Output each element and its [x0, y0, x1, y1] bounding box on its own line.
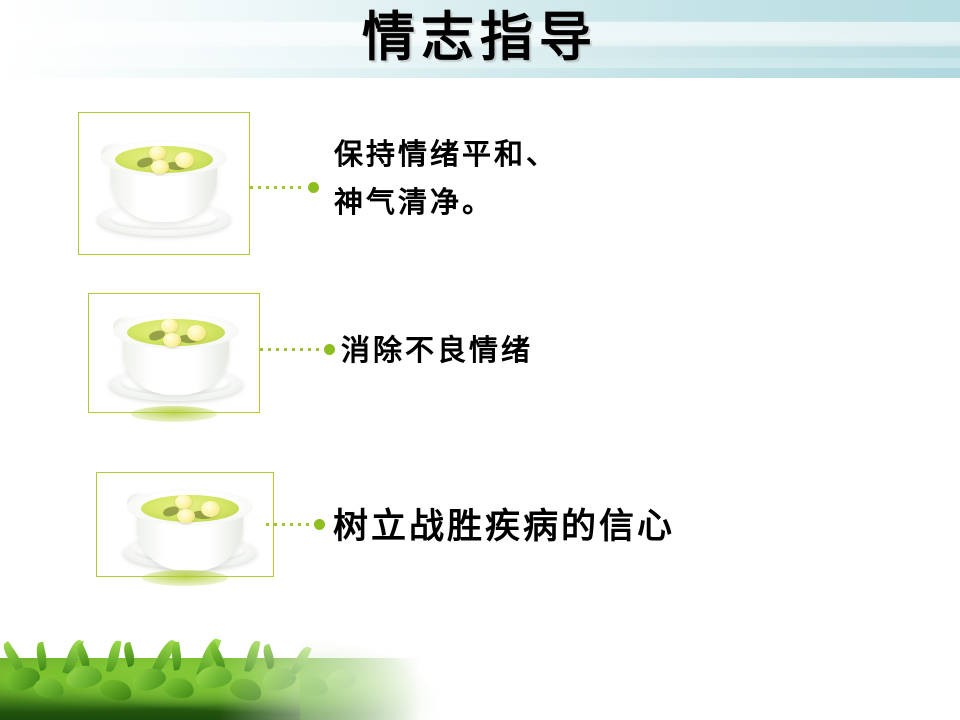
chrysanthemum-flower-shape: [175, 495, 192, 509]
item-text-2: 消除不良情绪: [341, 330, 533, 370]
bullet-dot-3: [314, 519, 325, 530]
item-text-3: 树立战胜疾病的信心: [333, 504, 675, 550]
dotted-line-2: [260, 348, 322, 351]
connector-2: [260, 343, 338, 355]
chrysanthemum-flower-shape: [187, 325, 206, 341]
bullet-dot-1: [308, 182, 319, 193]
tea-cup-image-2: [89, 294, 259, 412]
tea-cup-image-3: [97, 473, 273, 576]
image-frame-2[interactable]: [88, 293, 260, 413]
chrysanthemum-flower-shape: [151, 160, 169, 174]
dotted-line-3: [266, 523, 312, 526]
image-frame-3[interactable]: [96, 472, 274, 577]
tea-leaf-decoration: [0, 628, 420, 720]
tea-cup-image-1: [79, 113, 249, 254]
frame-shadow-3: [142, 570, 228, 586]
chrysanthemum-flower-shape: [149, 146, 166, 160]
chrysanthemum-flower-shape: [175, 152, 194, 168]
slide-canvas: 情志指导 保持情绪平和、 神气清净。: [0, 0, 960, 720]
tea-cup-illustration: [89, 124, 239, 244]
chrysanthemum-flower-shape: [161, 319, 178, 333]
connector-3: [266, 518, 328, 530]
tea-cup-illustration: [101, 297, 247, 409]
bullet-dot-2: [324, 344, 335, 355]
chrysanthemum-flower-shape: [163, 333, 181, 347]
item-text-1-line2: 神气清净。: [334, 178, 494, 226]
frame-shadow-2: [131, 406, 217, 422]
page-title: 情志指导: [0, 6, 960, 70]
chrysanthemum-flower-shape: [201, 501, 220, 517]
connector-1: [250, 181, 322, 193]
chrysanthemum-flower-shape: [177, 509, 195, 523]
item-text-1: 保持情绪平和、: [334, 130, 558, 178]
tea-cup-illustration: [115, 473, 255, 576]
image-frame-1[interactable]: [78, 112, 250, 255]
dotted-line-1: [250, 186, 306, 189]
